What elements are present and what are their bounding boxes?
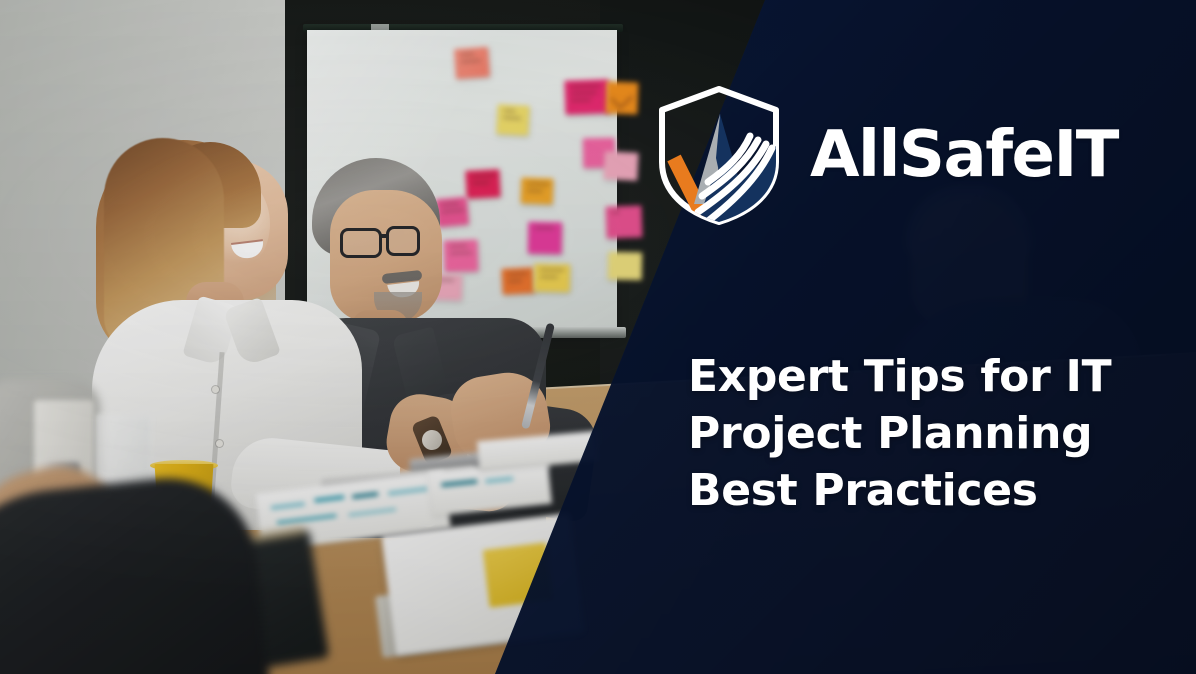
sticky-note xyxy=(534,264,570,293)
sticky-note xyxy=(605,81,638,114)
blog-banner: AllSafeIT Expert Tips for IT Project Pla… xyxy=(0,0,1196,674)
sticky-note xyxy=(605,205,642,238)
glasses-icon xyxy=(386,226,420,256)
sticky-note xyxy=(465,169,500,199)
headline-line-1: Expert Tips for IT xyxy=(688,348,1108,405)
shirt-button xyxy=(216,440,223,447)
shield-check-icon xyxy=(654,84,784,226)
shirt-button xyxy=(212,386,219,393)
headline: Expert Tips for IT Project Planning Best… xyxy=(688,348,1108,519)
brand-name: AllSafeIT xyxy=(810,123,1118,187)
sticky-note xyxy=(454,47,490,79)
sticky-note xyxy=(603,151,638,181)
brand-logo[interactable]: AllSafeIT xyxy=(654,84,1118,226)
sticky-note xyxy=(443,239,478,272)
headline-line-2: Project Planning xyxy=(688,405,1108,462)
glasses-bridge xyxy=(381,234,389,238)
sticky-note xyxy=(608,252,642,281)
glasses-icon xyxy=(340,228,382,258)
sticky-note xyxy=(521,177,554,204)
sticky-note xyxy=(496,104,530,136)
sticky-note xyxy=(528,222,563,255)
headline-line-3: Best Practices xyxy=(688,462,1108,519)
sticky-note xyxy=(501,267,534,295)
sticky-note xyxy=(564,79,609,115)
